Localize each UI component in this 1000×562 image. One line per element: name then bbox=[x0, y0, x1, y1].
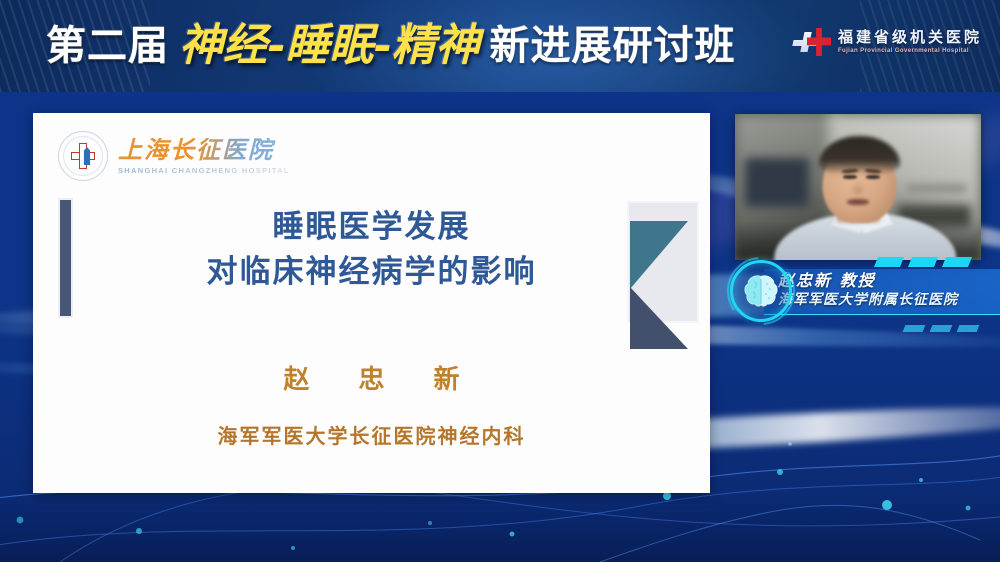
presentation-stage: 第二届 神经-睡眠-精神 新进展研讨班 福建省级机关医院 Fujian Prov… bbox=[0, 0, 1000, 562]
nameplate-speaker-name: 赵忠新 教授 bbox=[778, 272, 958, 290]
slide-title-line2: 对临床神经病学的影响 bbox=[33, 250, 710, 295]
banner-title-highlight: 神经-睡眠-精神 bbox=[179, 24, 480, 68]
fujian-hospital-name-en: Fujian Provincial Governmental Hospital bbox=[838, 48, 982, 54]
speaker-video-feed[interactable] bbox=[735, 114, 981, 260]
nameplate-dash-decoration bbox=[876, 257, 970, 267]
changzheng-hospital-logo: 上海长征医院 SHANGHAI CHANGZHENG HOSPITAL bbox=[58, 131, 290, 181]
slide-title: 睡眠医学发展 对临床神经病学的影响 bbox=[33, 205, 710, 295]
presentation-slide[interactable]: 上海长征医院 SHANGHAI CHANGZHENG HOSPITAL 睡眠医学… bbox=[33, 113, 710, 493]
video-background-shelf bbox=[907, 184, 966, 193]
slide-title-line1: 睡眠医学发展 bbox=[33, 205, 710, 250]
slide-presenter-name: 赵 忠 新 bbox=[33, 359, 710, 396]
nameplate-organization: 海军军医大学附属长征医院 bbox=[778, 292, 958, 308]
nameplate-icon-ring bbox=[730, 260, 792, 322]
event-banner: 第二届 神经-睡眠-精神 新进展研讨班 福建省级机关医院 Fujian Prov… bbox=[0, 0, 1000, 92]
changzheng-name-en: SHANGHAI CHANGZHENG HOSPITAL bbox=[118, 167, 290, 175]
nameplate-dash-decoration-lower bbox=[904, 325, 978, 332]
changzheng-name-cn: 上海长征医院 bbox=[118, 138, 290, 162]
speaker-mouth bbox=[847, 199, 869, 205]
speaker-eye-left bbox=[843, 175, 857, 179]
speaker-nameplate: 赵忠新 教授 海军军医大学附属长征医院 bbox=[718, 255, 1000, 333]
hospital-emblem-icon bbox=[58, 131, 108, 181]
speaker-nose bbox=[853, 181, 863, 194]
speaker-eye-right bbox=[866, 175, 880, 179]
banner-title-prefix: 第二届 bbox=[46, 26, 169, 66]
video-background-monitor bbox=[745, 158, 809, 208]
brain-icon bbox=[741, 273, 781, 309]
banner-title: 第二届 神经-睡眠-精神 新进展研讨班 bbox=[46, 24, 736, 68]
fujian-hospital-name-cn: 福建省级机关医院 bbox=[838, 30, 982, 45]
fujian-hospital-logo: 福建省级机关医院 Fujian Provincial Governmental … bbox=[793, 24, 982, 60]
medical-cross-icon bbox=[793, 24, 831, 60]
banner-title-suffix: 新进展研讨班 bbox=[490, 26, 736, 66]
nameplate-text: 赵忠新 教授 海军军医大学附属长征医院 bbox=[778, 272, 958, 308]
slide-affiliation: 海军军医大学长征医院神经内科 bbox=[33, 420, 710, 449]
